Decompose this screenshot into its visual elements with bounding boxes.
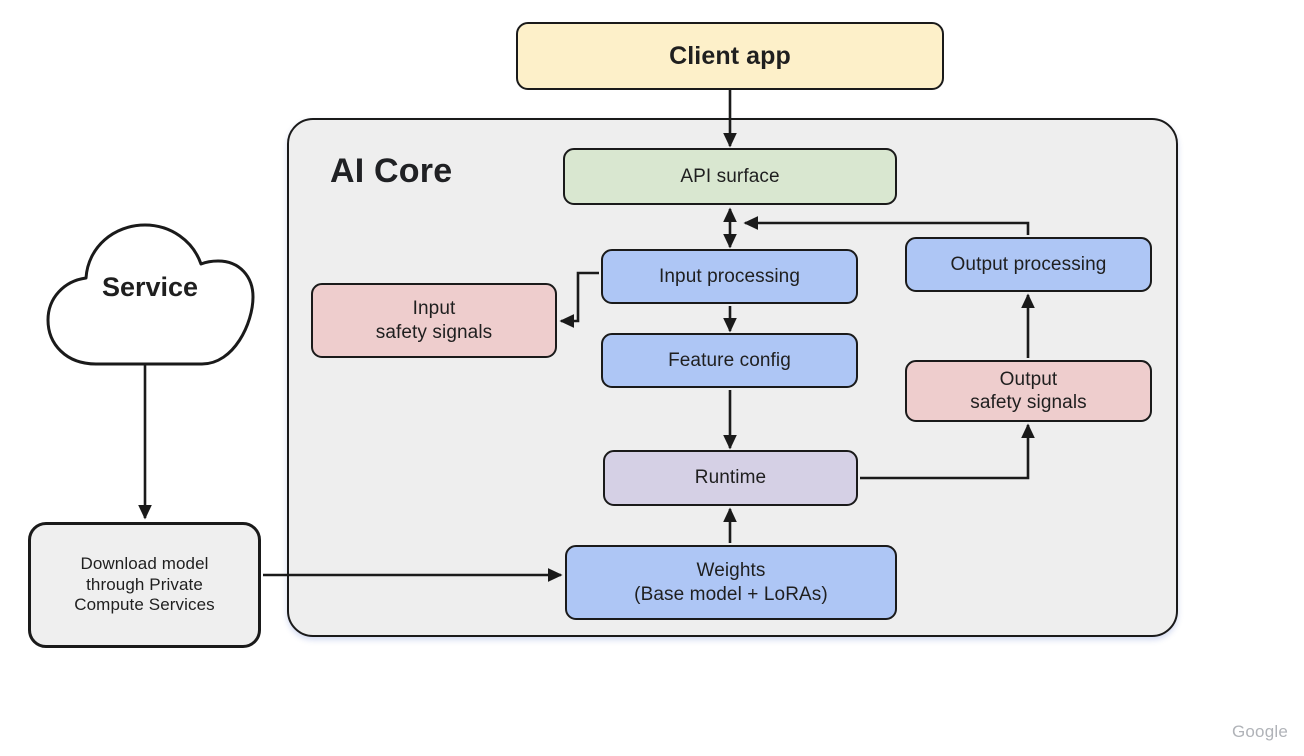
node-output-safety-signals-label: Output safety signals bbox=[907, 368, 1150, 414]
node-runtime-label: Runtime bbox=[605, 466, 856, 489]
node-feature-config[interactable]: Feature config bbox=[601, 333, 858, 388]
node-client-app[interactable]: Client app bbox=[516, 22, 944, 90]
diagram-canvas: Client app AI Core Service Download mode… bbox=[0, 0, 1304, 756]
node-weights-label: Weights (Base model + LoRAs) bbox=[567, 559, 895, 605]
node-download-model[interactable]: Download model through Private Compute S… bbox=[28, 522, 261, 648]
node-runtime[interactable]: Runtime bbox=[603, 450, 858, 506]
node-client-app-label: Client app bbox=[518, 41, 942, 72]
node-output-processing-label: Output processing bbox=[907, 253, 1150, 276]
node-input-processing-label: Input processing bbox=[603, 265, 856, 288]
node-feature-config-label: Feature config bbox=[603, 349, 856, 372]
node-api-surface-label: API surface bbox=[565, 165, 895, 188]
service-cloud-label: Service bbox=[44, 272, 256, 303]
node-download-model-label: Download model through Private Compute S… bbox=[31, 554, 258, 616]
node-api-surface[interactable]: API surface bbox=[563, 148, 897, 205]
google-watermark: Google bbox=[1232, 722, 1288, 742]
node-input-processing[interactable]: Input processing bbox=[601, 249, 858, 304]
node-weights[interactable]: Weights (Base model + LoRAs) bbox=[565, 545, 897, 620]
node-output-safety-signals[interactable]: Output safety signals bbox=[905, 360, 1152, 422]
node-input-safety-signals-label: Input safety signals bbox=[313, 297, 555, 343]
node-output-processing[interactable]: Output processing bbox=[905, 237, 1152, 292]
ai-core-title: AI Core bbox=[330, 152, 452, 191]
node-input-safety-signals[interactable]: Input safety signals bbox=[311, 283, 557, 358]
